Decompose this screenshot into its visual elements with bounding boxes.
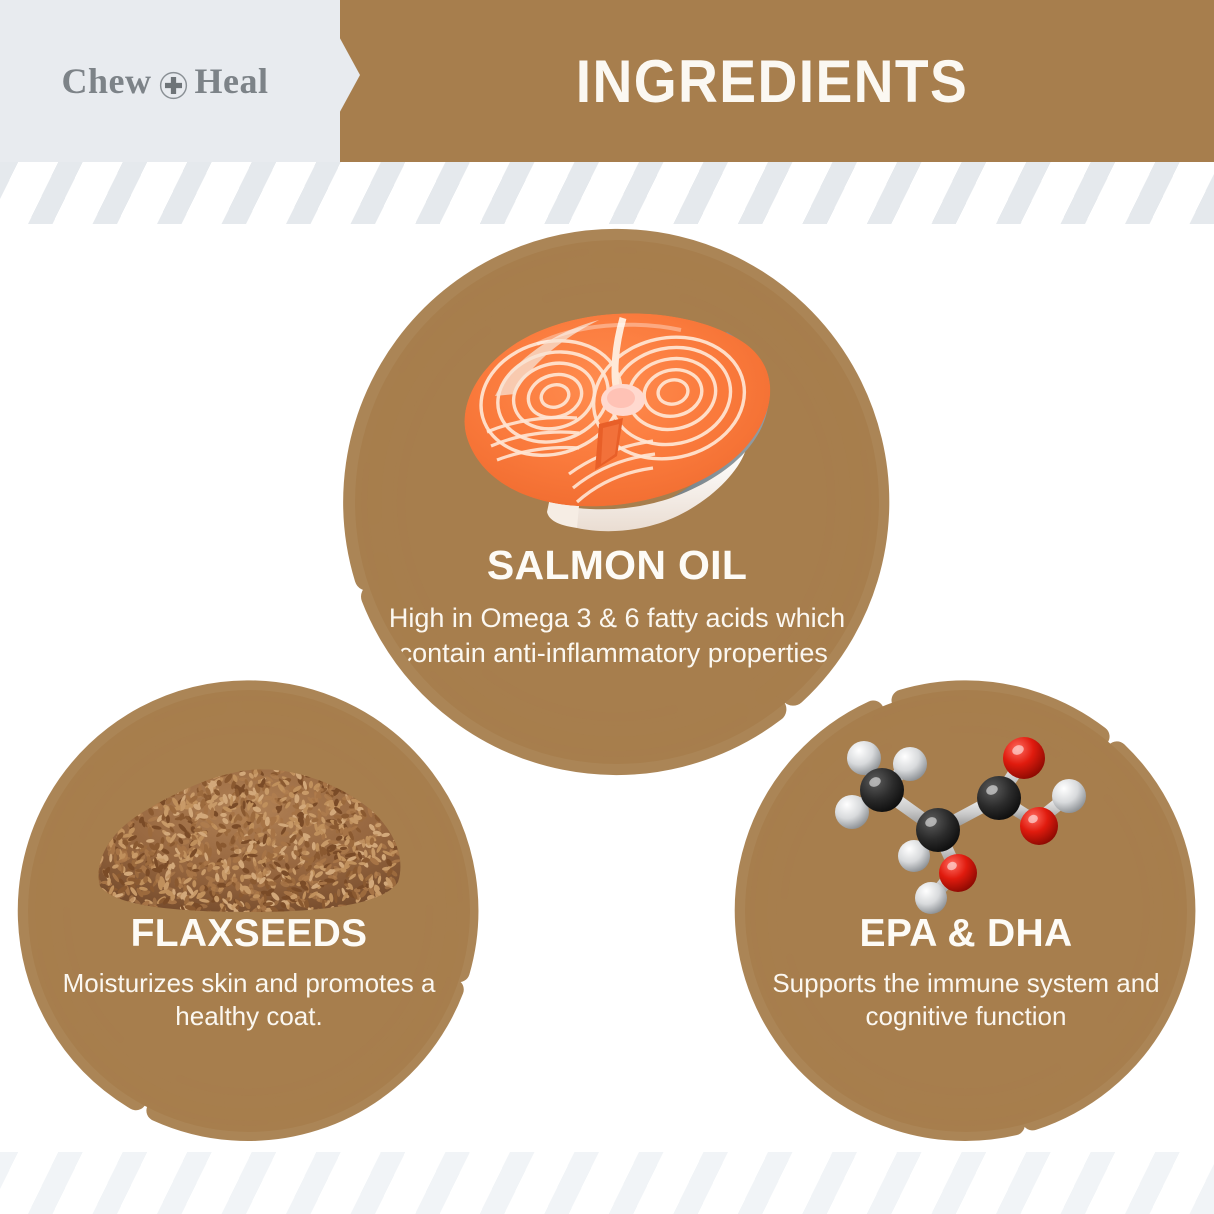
- infographic-canvas: Chew Heal INGREDIENTS: [0, 0, 1214, 1214]
- brand-logo[interactable]: Chew Heal: [0, 0, 330, 162]
- card-content: SALMON OIL High in Omega 3 & 6 fatty aci…: [355, 240, 879, 764]
- header: Chew Heal INGREDIENTS: [0, 0, 1214, 162]
- ingredient-card-flaxseeds[interactable]: FLAXSEEDS Moisturizes skin and promotes …: [28, 690, 470, 1132]
- page-title: INGREDIENTS: [365, 0, 1178, 162]
- ingredient-card-salmon[interactable]: SALMON OIL High in Omega 3 & 6 fatty aci…: [355, 240, 879, 764]
- molecule-model-image: [830, 718, 1102, 914]
- card-description-epa-dha: Supports the immune system and cognitive…: [745, 967, 1187, 1034]
- card-title-flaxseeds: FLAXSEEDS: [131, 914, 368, 955]
- card-title-salmon: SALMON OIL: [487, 544, 747, 587]
- card-content: FLAXSEEDS Moisturizes skin and promotes …: [28, 690, 470, 1132]
- stripe-divider-bottom: [0, 1152, 1214, 1214]
- ingredient-card-epa-dha[interactable]: EPA & DHA Supports the immune system and…: [745, 690, 1187, 1132]
- logo-word-chew: Chew: [62, 60, 152, 102]
- stripe-divider-top: [0, 162, 1214, 224]
- salmon-steak-image: [427, 288, 807, 538]
- card-title-epa-dha: EPA & DHA: [860, 914, 1073, 955]
- card-content: EPA & DHA Supports the immune system and…: [745, 690, 1187, 1132]
- plus-in-circle-icon: [159, 67, 188, 96]
- card-description-flaxseeds: Moisturizes skin and promotes a healthy …: [28, 967, 470, 1034]
- card-description-salmon: High in Omega 3 & 6 fatty acids which co…: [355, 601, 879, 670]
- flaxseed-pile-image: [84, 736, 414, 914]
- logo-word-heal: Heal: [195, 60, 269, 102]
